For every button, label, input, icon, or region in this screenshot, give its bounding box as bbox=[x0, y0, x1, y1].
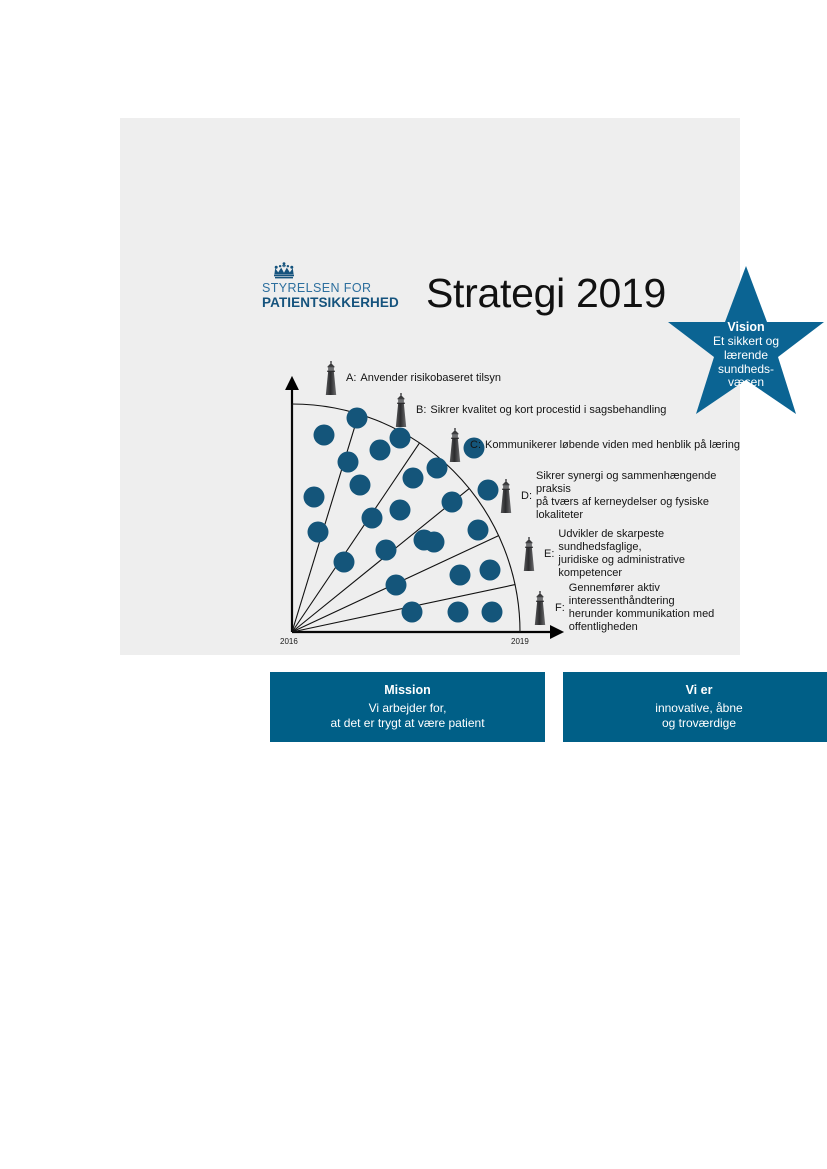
lighthouse-icon bbox=[498, 479, 514, 513]
goal-key-d: D: bbox=[521, 490, 532, 502]
logo-line-1: STYRELSEN FOR bbox=[262, 281, 371, 295]
goal-key-c: C: bbox=[470, 439, 481, 451]
values-lines: innovative, åbne og troværdige bbox=[563, 701, 827, 731]
vision-line-4: væsen bbox=[668, 376, 824, 390]
goal-text-a: Anvender risikobaseret tilsyn bbox=[360, 372, 501, 385]
lighthouse-icon bbox=[447, 428, 463, 462]
lighthouse-icon bbox=[323, 361, 339, 395]
goal-key-f: F: bbox=[555, 602, 565, 614]
mission-box: Mission Vi arbejder for, at det er trygt… bbox=[270, 672, 545, 742]
goal-text-b: Sikrer kvalitet og kort procestid i sags… bbox=[430, 404, 666, 417]
x-axis-end-label: 2019 bbox=[511, 637, 529, 646]
values-box: Vi er innovative, åbne og troværdige bbox=[563, 672, 827, 742]
goal-key-a: A: bbox=[346, 372, 356, 384]
lighthouse-icon bbox=[393, 393, 409, 427]
goal-text-c: Kommunikerer løbende viden med henblik p… bbox=[485, 439, 740, 452]
page-title: Strategi 2019 bbox=[426, 270, 666, 317]
vision-line-1: Et sikkert og bbox=[668, 335, 824, 349]
vision-star: Vision Et sikkert og lærende sundheds- v… bbox=[668, 264, 824, 422]
mission-lines: Vi arbejder for, at det er trygt at være… bbox=[270, 701, 545, 731]
goal-item-e: E: Udvikler de skarpeste sundhedsfaglige… bbox=[521, 528, 740, 580]
poster-panel: STYRELSEN FOR PATIENTSIKKERHED Strategi … bbox=[120, 118, 740, 655]
goal-text-e: Udvikler de skarpeste sundhedsfaglige, j… bbox=[558, 528, 740, 580]
goal-text-f: Gennemfører aktiv interessenthåndtering … bbox=[569, 582, 740, 634]
lighthouse-icon bbox=[532, 591, 548, 625]
organization-logo: STYRELSEN FOR PATIENTSIKKERHED bbox=[262, 262, 402, 314]
vision-line-2: lærende bbox=[668, 349, 824, 363]
goal-text-d: Sikrer synergi og sammenhængende praksis… bbox=[536, 470, 740, 522]
lighthouse-icon bbox=[521, 537, 537, 571]
goal-item-a: A: Anvender risikobaseret tilsyn bbox=[323, 361, 501, 395]
values-title: Vi er bbox=[563, 683, 827, 699]
logo-line-2: PATIENTSIKKERHED bbox=[262, 295, 399, 310]
goal-key-b: B: bbox=[416, 404, 426, 416]
x-axis-start-label: 2016 bbox=[280, 637, 298, 646]
vision-line-3: sundheds- bbox=[668, 363, 824, 377]
goal-item-b: B: Sikrer kvalitet og kort procestid i s… bbox=[393, 393, 666, 427]
goal-key-e: E: bbox=[544, 548, 554, 560]
goal-item-f: F: Gennemfører aktiv interessenthåndteri… bbox=[532, 582, 740, 634]
danish-crown-icon bbox=[271, 262, 297, 280]
goal-item-c: C: Kommunikerer løbende viden med henbli… bbox=[447, 428, 740, 462]
vision-text: Vision Et sikkert og lærende sundheds- v… bbox=[668, 320, 824, 390]
mission-title: Mission bbox=[270, 683, 545, 699]
goal-item-d: D: Sikrer synergi og sammenhængende prak… bbox=[498, 470, 740, 522]
poster-page: STYRELSEN FOR PATIENTSIKKERHED Strategi … bbox=[0, 0, 827, 1169]
vision-heading: Vision bbox=[668, 320, 824, 334]
